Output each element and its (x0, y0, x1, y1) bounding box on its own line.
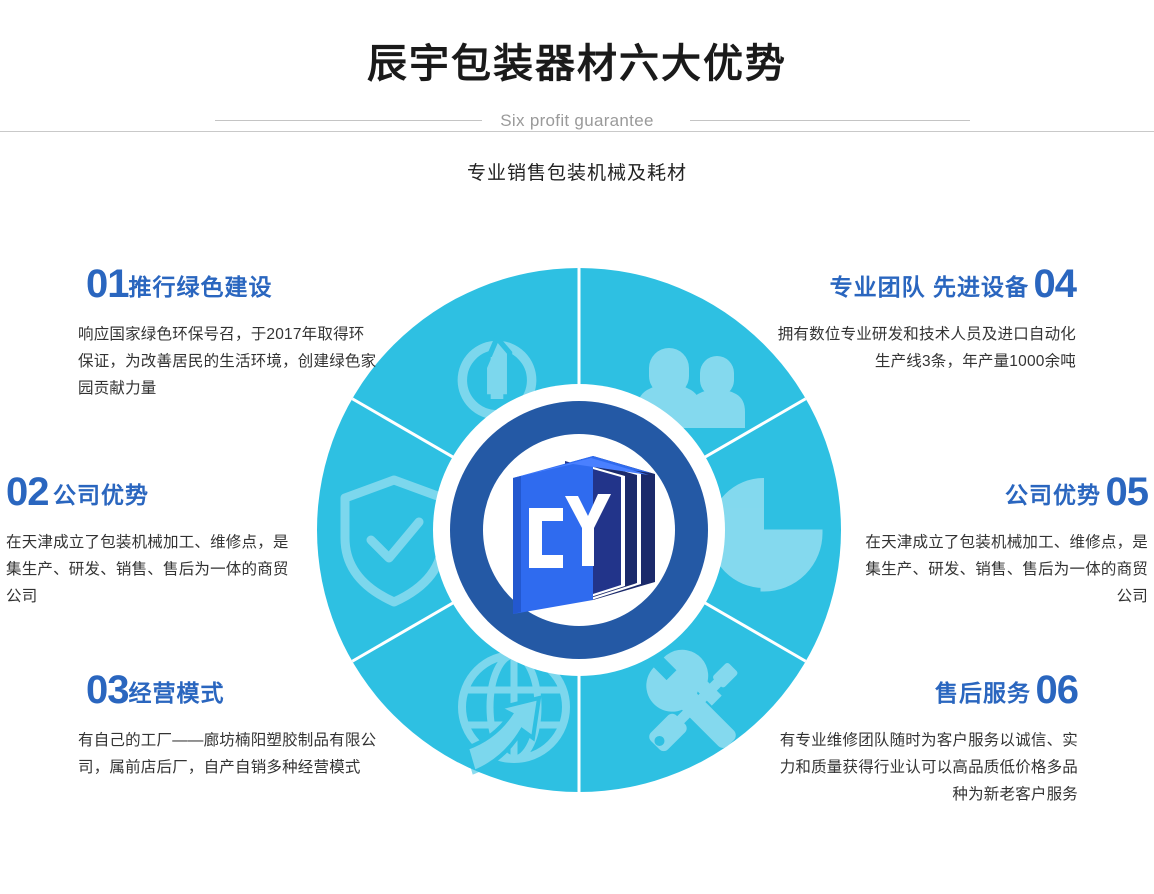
title-divider: Six profit guarantee (0, 110, 1154, 142)
advantage-label-06: 售后服务 (935, 680, 1031, 706)
advantage-label-03: 经营模式 (129, 680, 225, 706)
advantage-body-06: 有专业维修团队随时为客户服务以诚信、实力和质量获得行业认可以高品质低价格多品种为… (766, 727, 1078, 808)
advantage-label-01: 推行绿色建设 (129, 274, 273, 300)
advantage-heading-01: 01推行绿色建设 (86, 262, 378, 313)
page-header: 辰宇包装器材六大优势 Six profit guarantee 专业销售包装机械… (0, 0, 1154, 210)
advantage-number-03: 03 (86, 668, 129, 712)
advantage-label-02: 公司优势 (53, 482, 149, 508)
page-title: 辰宇包装器材六大优势 (0, 38, 1154, 90)
page-subtitle: 专业销售包装机械及耗材 (0, 158, 1154, 185)
advantage-heading-04: 专业团队 先进设备 04 (776, 262, 1076, 313)
advantage-body-05: 在天津成立了包装机械加工、维修点，是集生产、研发、销售、售后为一体的商贸公司 (856, 529, 1148, 610)
advantage-label-05: 公司优势 (1005, 482, 1101, 508)
divider-label: Six profit guarantee (482, 111, 671, 130)
advantage-body-02: 在天津成立了包装机械加工、维修点，是集生产、研发、销售、售后为一体的商贸公司 (6, 529, 296, 610)
advantage-number-05: 05 (1106, 470, 1149, 514)
advantage-number-06: 06 (1036, 668, 1079, 712)
advantage-item-06: 售后服务 06 有专业维修团队随时为客户服务以诚信、实力和质量获得行业认可以高品… (766, 668, 1078, 808)
advantage-item-01: 01推行绿色建设 响应国家绿色环保号召，于2017年取得环保证，为改善居民的生活… (78, 262, 378, 402)
advantage-number-02: 02 (6, 470, 49, 514)
advantage-item-03: 03经营模式 有自己的工厂——廊坊楠阳塑胶制品有限公司，属前店后厂，自产自销多种… (78, 668, 388, 781)
advantage-heading-02: 02 公司优势 (6, 470, 296, 521)
advantage-body-03: 有自己的工厂——廊坊楠阳塑胶制品有限公司，属前店后厂，自产自销多种经营模式 (78, 727, 388, 781)
advantage-heading-06: 售后服务 06 (766, 668, 1078, 719)
advantage-number-01: 01 (86, 262, 129, 306)
advantage-body-01: 响应国家绿色环保号召，于2017年取得环保证，为改善居民的生活环境，创建绿色家园… (78, 321, 378, 402)
advantage-item-04: 专业团队 先进设备 04 拥有数位专业研发和技术人员及进口自动化生产线3条，年产… (776, 262, 1076, 375)
six-advantage-wheel (317, 268, 841, 792)
advantage-body-04: 拥有数位专业研发和技术人员及进口自动化生产线3条，年产量1000余吨 (776, 321, 1076, 375)
advantage-item-05: 公司优势 05 在天津成立了包装机械加工、维修点，是集生产、研发、销售、售后为一… (856, 470, 1148, 610)
advantage-label-04: 专业团队 先进设备 (830, 274, 1029, 300)
advantage-item-02: 02 公司优势 在天津成立了包装机械加工、维修点，是集生产、研发、销售、售后为一… (6, 470, 296, 610)
divider-label-wrap: Six profit guarantee (0, 110, 1154, 132)
advantage-heading-03: 03经营模式 (86, 668, 388, 719)
advantage-heading-05: 公司优势 05 (856, 470, 1148, 521)
advantage-number-04: 04 (1034, 262, 1077, 306)
